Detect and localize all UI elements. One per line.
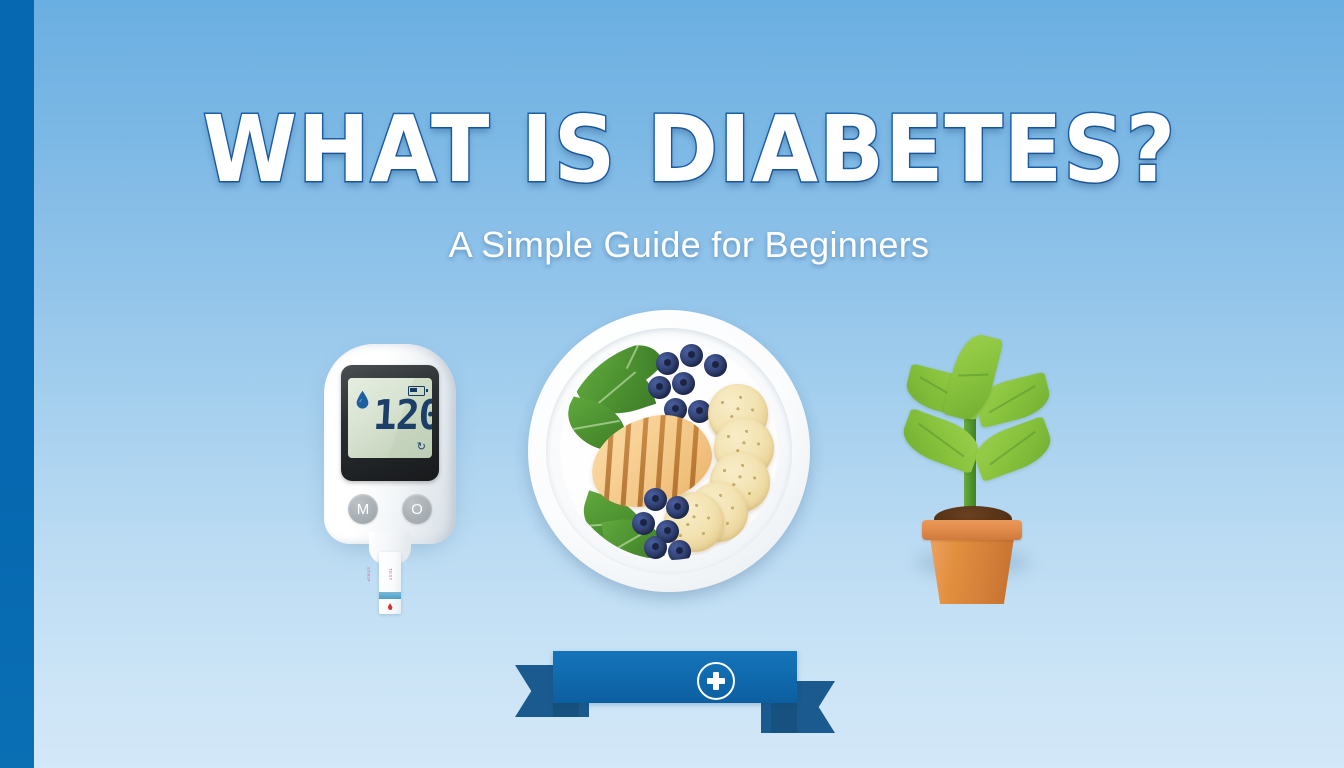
flower-pot-body <box>930 538 1014 604</box>
glucose-meter: 120 ↻ M O TEST STRIP <box>322 344 458 614</box>
glucose-reading-value: 120 <box>372 395 430 436</box>
plate-food-area <box>560 340 778 560</box>
left-accent-bar <box>0 0 34 768</box>
blueberry <box>644 488 667 511</box>
sync-icon: ↻ <box>417 442 426 453</box>
page-title-container: WHAT IS DIABETES? <box>34 104 1344 196</box>
blueberry <box>656 352 679 375</box>
healthy-meal-plate <box>528 310 810 596</box>
blueberry <box>560 340 583 363</box>
blueberry <box>644 536 667 559</box>
blood-drop-icon <box>355 390 370 409</box>
test-strip-band <box>379 592 401 599</box>
potted-plant <box>892 328 1072 598</box>
page-title: WHAT IS DIABETES? <box>202 104 1176 196</box>
blueberry <box>666 496 689 519</box>
meter-screen-bezel: 120 ↻ <box>341 365 439 481</box>
blood-sample-drop <box>388 603 393 610</box>
blueberry <box>672 372 695 395</box>
ribbon-main-band <box>553 651 797 703</box>
flower-pot-rim <box>922 520 1022 540</box>
blueberry <box>632 512 655 535</box>
test-strip: TEST STRIP <box>379 552 401 614</box>
medical-cross-icon <box>697 662 735 700</box>
poster-canvas: WHAT IS DIABETES? A Simple Guide for Beg… <box>0 0 1344 768</box>
blueberry <box>680 344 703 367</box>
blueberry <box>668 540 691 560</box>
blueberry <box>704 354 727 377</box>
meter-memory-button[interactable]: M <box>348 494 378 524</box>
test-strip-label: TEST STRIP <box>379 560 401 588</box>
medical-ribbon-banner <box>515 645 835 733</box>
blueberry <box>648 376 671 399</box>
page-subtitle-container: A Simple Guide for Beginners <box>34 224 1344 266</box>
page-subtitle: A Simple Guide for Beginners <box>449 224 930 266</box>
meter-lcd-screen: 120 ↻ <box>348 378 432 458</box>
meter-power-button[interactable]: O <box>402 494 432 524</box>
